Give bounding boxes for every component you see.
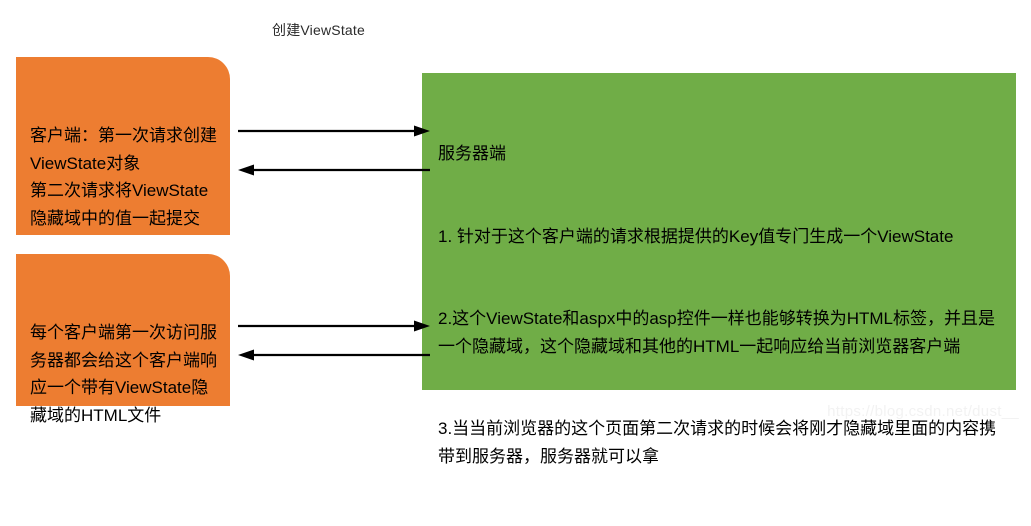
- arrow-right-icon-client1-to-server: [238, 124, 430, 138]
- client-box-1-text: 客户端：第一次请求创建ViewState对象 第二次请求将ViewState隐藏…: [30, 122, 218, 232]
- arrow-left-icon-server-to-client1: [238, 163, 430, 177]
- server-box-item-1: 1. 针对于这个客户端的请求根据提供的Key值专门生成一个ViewState: [438, 223, 1006, 251]
- server-side-box: 服务器端 1. 针对于这个客户端的请求根据提供的Key值专门生成一个ViewSt…: [422, 73, 1016, 390]
- server-box-heading: 服务器端: [438, 140, 1006, 168]
- arrow-right-icon-client2-to-server: [238, 319, 430, 333]
- server-box-item-2: 2.这个ViewState和aspx中的asp控件一样也能够转换为HTML标签，…: [438, 305, 1006, 360]
- client-box-2-text: 每个客户端第一次访问服务器都会给这个客户端响应一个带有ViewState隐藏域的…: [30, 319, 218, 429]
- arrow-left-icon-server-to-client2: [238, 348, 430, 362]
- server-box-item-3: 3.当当前浏览器的这个页面第二次请求的时候会将刚才隐藏域里面的内容携带到服务器，…: [438, 415, 1006, 470]
- diagram-canvas: 创建ViewState 客户端：第一次请求创建ViewState对象 第二次请求…: [0, 0, 1031, 426]
- client-request-box-1: 客户端：第一次请求创建ViewState对象 第二次请求将ViewState隐藏…: [16, 57, 230, 235]
- watermark: https://blog.csdn.net/dust__: [827, 403, 1019, 420]
- page-title: 创建ViewState: [272, 20, 365, 40]
- client-request-box-2: 每个客户端第一次访问服务器都会给这个客户端响应一个带有ViewState隐藏域的…: [16, 254, 230, 406]
